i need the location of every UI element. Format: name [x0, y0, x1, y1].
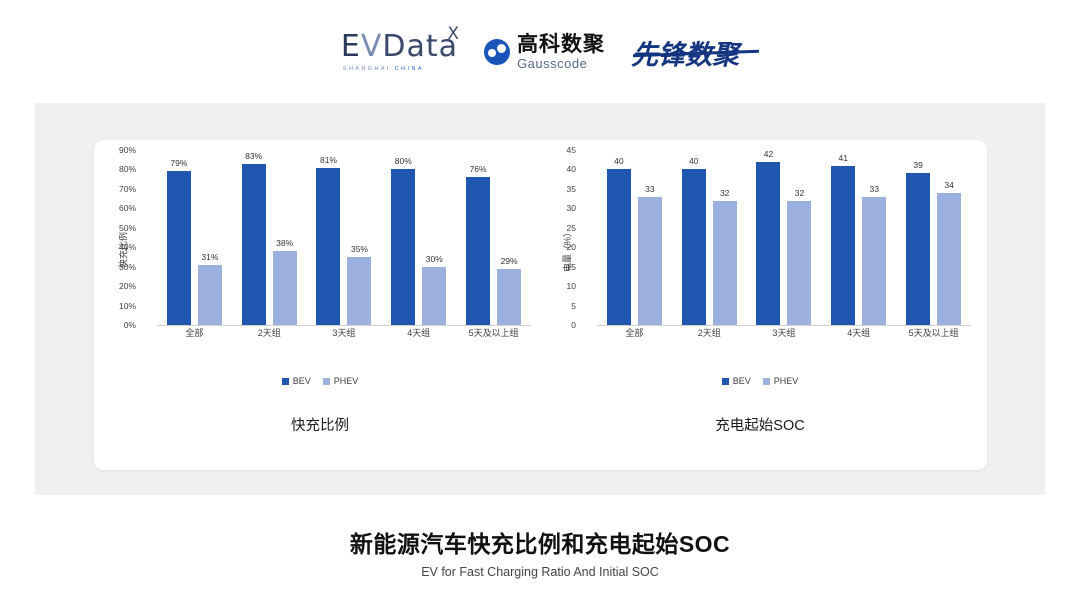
bar-value-label: 79% — [170, 158, 187, 168]
bar-groups-left: 79%31%83%38%81%35%80%30%76%29% — [157, 150, 531, 325]
footer-title-en: EV for Fast Charging Ratio And Initial S… — [0, 565, 1080, 579]
legend-label-bev-right: BEV — [733, 376, 751, 386]
logo-bar: EVDataX SHANGHAI CHINA 高科数聚 Gausscode 先锋… — [0, 22, 1080, 82]
legend-left: BEV PHEV — [105, 376, 535, 386]
x-tick-right-2: 3天组 — [747, 326, 822, 339]
y-tick-right-5: 25 — [542, 223, 576, 233]
x-tick-right-0: 全部 — [597, 326, 672, 339]
legend-item-phev-right: PHEV — [763, 376, 799, 386]
bar-value-label: 41 — [839, 153, 848, 163]
bar-left-bev-4: 76% — [466, 177, 490, 325]
bar-left-phev-1: 38% — [273, 251, 297, 325]
bar-value-label: 39 — [913, 160, 922, 170]
bar-fill — [682, 169, 706, 325]
bar-value-label: 83% — [245, 151, 262, 161]
gausscode-name-en: Gausscode — [517, 57, 605, 70]
gausscode-logo-icon — [484, 39, 510, 65]
bar-right-bev-1: 40 — [682, 169, 706, 325]
y-tick-right-8: 40 — [542, 164, 576, 174]
y-tick-right-0: 0 — [542, 320, 576, 330]
bar-right-phev-1: 32 — [713, 201, 737, 325]
y-tick-left-5: 50% — [102, 223, 136, 233]
bar-group-left-2: 81%35% — [307, 150, 382, 325]
xianfeng-logo: 先锋数聚 — [631, 28, 739, 76]
bar-fill — [831, 166, 855, 325]
bar-right-phev-3: 33 — [862, 197, 886, 325]
bar-fill — [167, 171, 191, 325]
bar-fill — [638, 197, 662, 325]
y-tick-left-2: 20% — [102, 281, 136, 291]
bar-right-bev-2: 42 — [756, 162, 780, 325]
plot-area-left: 快充比例 0%10%20%30%40%50%60%70%80%90% 79%31… — [105, 150, 535, 350]
x-tick-left-2: 3天组 — [307, 326, 382, 339]
plot-area-right: 电量（%） 051015202530354045 403340324232413… — [545, 150, 975, 350]
footer-title-cn: 新能源汽车快充比例和充电起始SOC — [0, 525, 1080, 559]
bar-left-bev-3: 80% — [391, 169, 415, 325]
bars-left: 79%31%83%38%81%35%80%30%76%29% — [157, 150, 531, 326]
x-tick-right-1: 2天组 — [672, 326, 747, 339]
y-tick-left-6: 60% — [102, 203, 136, 213]
evdata-logo: EVDataX SHANGHAI CHINA — [341, 28, 458, 76]
bar-group-right-1: 4032 — [672, 150, 747, 325]
bar-fill — [316, 168, 340, 326]
bar-value-label: 34 — [944, 180, 953, 190]
x-axis-labels-right: 全部2天组3天组4天组5天及以上组 — [597, 326, 971, 339]
x-tick-right-4: 5天及以上组 — [896, 326, 971, 339]
y-tick-right-6: 30 — [542, 203, 576, 213]
bar-right-phev-0: 33 — [638, 197, 662, 325]
bar-fill — [862, 197, 886, 325]
y-axis-ticks-left: 0%10%20%30%40%50%60%70%80%90% — [105, 150, 139, 325]
bar-fill — [787, 201, 811, 325]
y-tick-left-3: 30% — [102, 262, 136, 272]
bar-fill — [937, 193, 961, 325]
bar-value-label: 80% — [395, 156, 412, 166]
y-tick-right-9: 45 — [542, 145, 576, 155]
bar-fill — [422, 267, 446, 325]
bar-value-label: 31% — [201, 252, 218, 262]
legend-swatch-phev-right — [763, 378, 770, 385]
bar-value-label: 42 — [764, 149, 773, 159]
bar-group-right-0: 4033 — [597, 150, 672, 325]
x-tick-right-3: 4天组 — [821, 326, 896, 339]
legend-item-bev-right: BEV — [722, 376, 751, 386]
bar-right-bev-0: 40 — [607, 169, 631, 325]
bar-left-bev-2: 81% — [316, 168, 340, 326]
gausscode-name-cn: 高科数聚 — [517, 34, 605, 55]
bar-left-phev-2: 35% — [347, 257, 371, 325]
bar-group-left-0: 79%31% — [157, 150, 232, 325]
bar-value-label: 38% — [276, 238, 293, 248]
legend-label-phev-left: PHEV — [334, 376, 359, 386]
y-tick-right-7: 35 — [542, 184, 576, 194]
y-tick-left-7: 70% — [102, 184, 136, 194]
bar-group-right-4: 3934 — [896, 150, 971, 325]
bar-fill — [756, 162, 780, 325]
chart-caption-right: 充电起始SOC — [545, 414, 975, 435]
y-tick-left-9: 90% — [102, 145, 136, 155]
bar-value-label: 32 — [720, 188, 729, 198]
bar-fill — [466, 177, 490, 325]
evdata-letter-v: V — [361, 29, 383, 64]
legend-label-phev-right: PHEV — [774, 376, 799, 386]
y-axis-ticks-right: 051015202530354045 — [545, 150, 579, 325]
evdata-superscript-x: X — [447, 26, 460, 43]
y-tick-right-3: 15 — [542, 262, 576, 272]
evdata-wordmark: EVDataX — [341, 32, 458, 62]
bar-value-label: 81% — [320, 155, 337, 165]
bar-fill — [198, 265, 222, 325]
chart-caption-left: 快充比例 — [105, 414, 535, 435]
legend-swatch-phev-left — [323, 378, 330, 385]
bar-fill — [273, 251, 297, 325]
bar-value-label: 76% — [470, 164, 487, 174]
x-tick-left-0: 全部 — [157, 326, 232, 339]
y-tick-left-1: 10% — [102, 301, 136, 311]
evdata-letter-e: E — [341, 29, 361, 64]
x-axis-labels-left: 全部2天组3天组4天组5天及以上组 — [157, 326, 531, 339]
bar-fill — [242, 164, 266, 325]
bar-group-right-2: 4232 — [747, 150, 822, 325]
bar-right-bev-3: 41 — [831, 166, 855, 325]
x-tick-left-3: 4天组 — [381, 326, 456, 339]
bar-fill — [906, 173, 930, 325]
gausscode-logo: 高科数聚 Gausscode — [484, 28, 605, 76]
bar-value-label: 33 — [645, 184, 654, 194]
bar-left-bev-0: 79% — [167, 171, 191, 325]
evdata-sublabel-country: CHINA — [395, 66, 424, 72]
legend-swatch-bev-left — [282, 378, 289, 385]
bar-group-right-3: 4133 — [821, 150, 896, 325]
evdata-sublabel: SHANGHAI CHINA — [341, 66, 458, 72]
bar-value-label: 29% — [501, 256, 518, 266]
legend-right: BEV PHEV — [545, 376, 975, 386]
bars-right: 40334032423241333934 — [597, 150, 971, 326]
gausscode-wordmark: 高科数聚 Gausscode — [517, 34, 605, 70]
y-tick-right-2: 10 — [542, 281, 576, 291]
bar-left-bev-1: 83% — [242, 164, 266, 325]
x-tick-left-4: 5天及以上组 — [456, 326, 531, 339]
evdata-sublabel-city: SHANGHAI — [343, 66, 395, 72]
bar-left-phev-3: 30% — [422, 267, 446, 325]
y-tick-left-8: 80% — [102, 164, 136, 174]
bar-value-label: 40 — [614, 156, 623, 166]
bar-value-label: 40 — [689, 156, 698, 166]
bar-right-phev-2: 32 — [787, 201, 811, 325]
legend-label-bev-left: BEV — [293, 376, 311, 386]
bar-left-phev-0: 31% — [198, 265, 222, 325]
bar-right-phev-4: 34 — [937, 193, 961, 325]
bar-fill — [347, 257, 371, 325]
bar-fill — [713, 201, 737, 325]
chart-fast-charging-ratio: 快充比例 0%10%20%30%40%50%60%70%80%90% 79%31… — [105, 150, 535, 435]
bar-fill — [391, 169, 415, 325]
legend-item-bev-left: BEV — [282, 376, 311, 386]
bar-fill — [607, 169, 631, 325]
y-tick-right-4: 20 — [542, 242, 576, 252]
bar-group-left-3: 80%30% — [381, 150, 456, 325]
x-tick-left-1: 2天组 — [232, 326, 307, 339]
bar-left-phev-4: 29% — [497, 269, 521, 325]
bar-value-label: 35% — [351, 244, 368, 254]
bar-fill — [497, 269, 521, 325]
footer-titles: 新能源汽车快充比例和充电起始SOC EV for Fast Charging R… — [0, 525, 1080, 579]
bar-group-left-1: 83%38% — [232, 150, 307, 325]
y-tick-right-1: 5 — [542, 301, 576, 311]
chart-initial-soc: 电量（%） 051015202530354045 403340324232413… — [545, 150, 975, 435]
y-tick-left-4: 40% — [102, 242, 136, 252]
bar-value-label: 32 — [795, 188, 804, 198]
bar-group-left-4: 76%29% — [456, 150, 531, 325]
bar-right-bev-4: 39 — [906, 173, 930, 325]
bar-value-label: 33 — [870, 184, 879, 194]
legend-swatch-bev-right — [722, 378, 729, 385]
bar-value-label: 30% — [426, 254, 443, 264]
y-tick-left-0: 0% — [102, 320, 136, 330]
bar-groups-right: 40334032423241333934 — [597, 150, 971, 325]
legend-item-phev-left: PHEV — [323, 376, 359, 386]
